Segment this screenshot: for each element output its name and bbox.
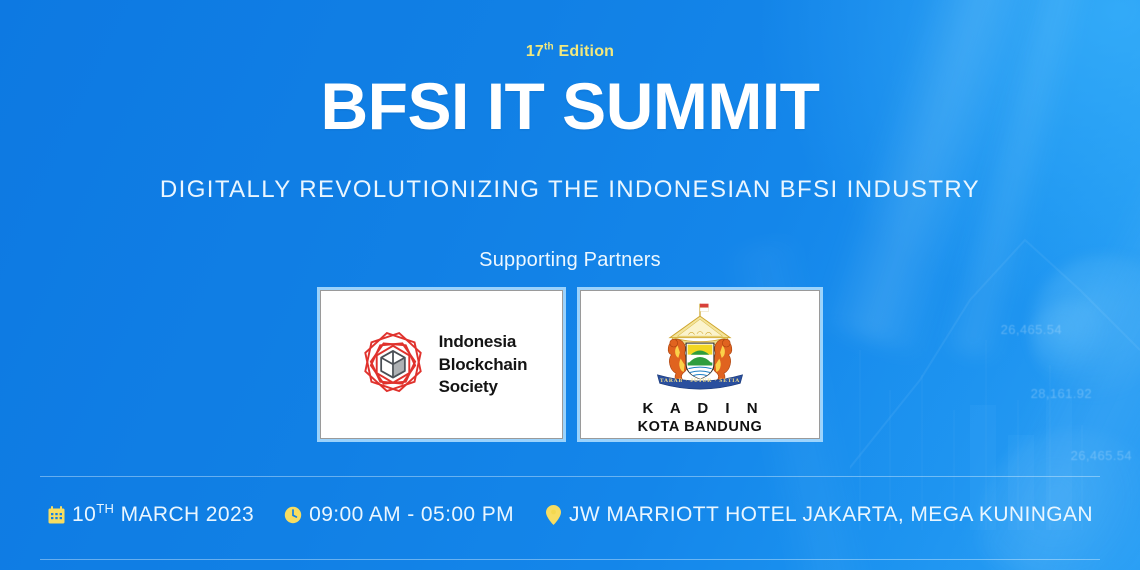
edition-number: 17 [526,43,544,60]
supporting-partners-label: Supporting Partners [479,249,661,272]
page-title: BFSI IT SUMMIT [321,73,820,140]
edition-word: Edition [559,43,615,60]
ibs-line-3: Society [439,376,528,398]
ibs-line-1: Indonesia [439,331,528,353]
partner-city-kadin: KOTA BANDUNG [638,420,763,435]
edition-ordinal: th [544,42,554,53]
partner-logo-card-indonesia-blockchain-society[interactable]: Indonesia Blockchain Society [320,290,563,439]
kadin-motto: TARAB · JUJUR · SETIA [660,377,740,383]
event-banner: 26,465.54 28,161.92 26,465.54 17th Editi… [0,0,1140,570]
edition-label: 17th Edition [526,44,614,60]
partner-logo-row: Indonesia Blockchain Society [320,290,820,439]
banner-content: 17th Edition BFSI IT SUMMIT DIGITALLY RE… [0,0,1140,570]
ibs-line-2: Blockchain [439,354,528,376]
partner-name-indonesia-blockchain-society: Indonesia Blockchain Society [439,331,528,398]
partner-logo-card-kadin-kota-bandung[interactable]: TARAB · JUJUR · SETIA K A D I N KOTA BAN… [580,290,820,439]
partner-name-kadin: K A D I N [636,401,764,416]
page-subtitle: DIGITALLY REVOLUTIONIZING THE INDONESIAN… [160,176,980,204]
hexagon-cube-icon [356,328,430,402]
kadin-coat-of-arms-icon: TARAB · JUJUR · SETIA [642,300,758,394]
